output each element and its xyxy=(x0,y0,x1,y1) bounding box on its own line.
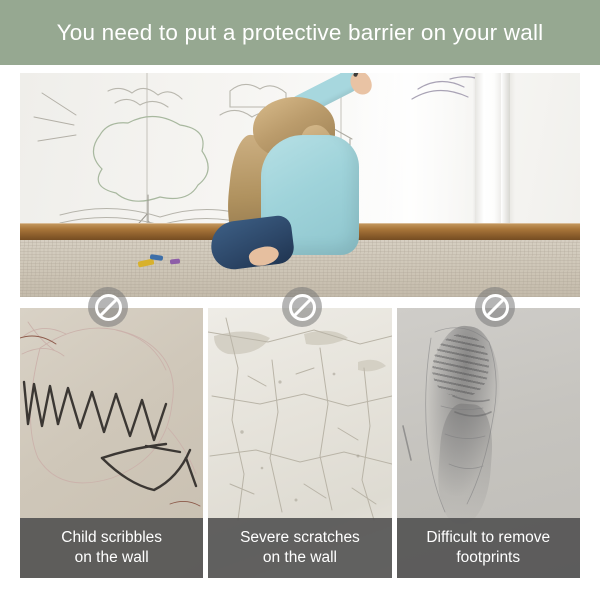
prohibited-badge-2 xyxy=(282,287,322,327)
caption-text: Child scribbleson the wall xyxy=(49,528,174,568)
prohibited-badge-3 xyxy=(475,287,515,327)
prohibited-badge-1 xyxy=(88,287,128,327)
toy-crayon xyxy=(170,258,180,264)
caption-text: Severe scratcheson the wall xyxy=(228,528,372,568)
panel-child-scribbles: Child scribbleson the wall xyxy=(20,308,203,578)
caption-text: Difficult to removefootprints xyxy=(414,528,562,568)
page-title: You need to put a protective barrier on … xyxy=(57,20,544,46)
no-entry-icon xyxy=(289,294,316,321)
panel-caption: Difficult to removefootprints xyxy=(397,518,580,578)
scratch-marks xyxy=(208,308,391,523)
door-frame-molding xyxy=(475,73,515,231)
problem-panels: Child scribbleson the wall xyxy=(20,308,580,578)
header-banner: You need to put a protective barrier on … xyxy=(0,0,600,65)
promo-infographic: You need to put a protective barrier on … xyxy=(0,0,600,600)
panel-caption: Severe scratcheson the wall xyxy=(208,518,391,578)
panel-difficult-footprints: Difficult to removefootprints xyxy=(397,308,580,578)
no-entry-icon xyxy=(95,294,122,321)
footprint-detail xyxy=(397,308,580,523)
no-entry-icon xyxy=(482,294,509,321)
panel-severe-scratches: Severe scratcheson the wall xyxy=(208,308,391,578)
child-figure xyxy=(205,79,370,274)
scribble-marks xyxy=(20,308,203,523)
hero-image xyxy=(20,73,580,297)
panel-caption: Child scribbleson the wall xyxy=(20,518,203,578)
